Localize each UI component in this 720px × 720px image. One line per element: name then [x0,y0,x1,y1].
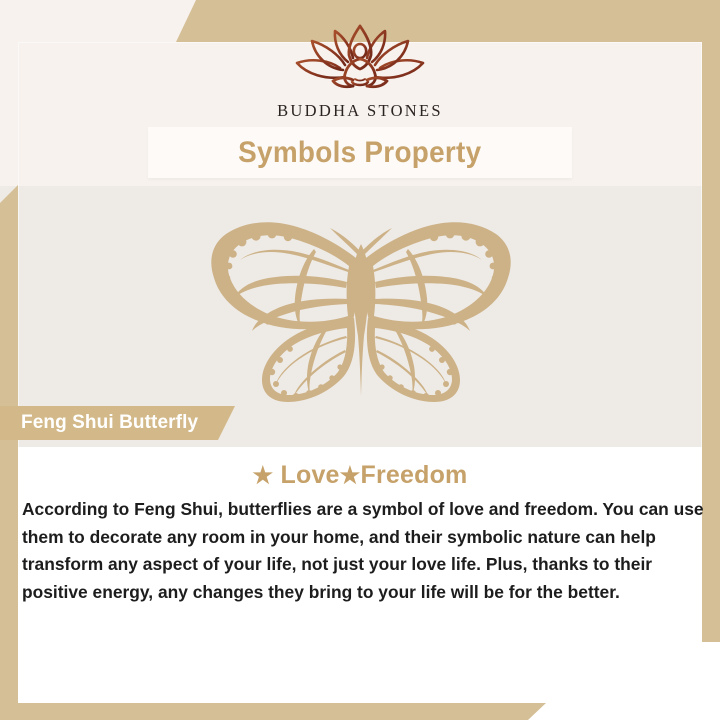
description-paragraph: According to Feng Shui, butterflies are … [22,496,720,606]
feng-shui-banner-label: Feng Shui Butterfly [0,412,198,434]
frame-left-bar [0,185,18,720]
butterfly-illustration [196,206,526,406]
tagline-word-love: Love [281,461,340,489]
butterfly-icon [196,206,526,406]
feng-shui-banner: Feng Shui Butterfly [0,406,235,440]
page-title: Symbols Property [238,136,481,170]
star-icon-middle: ★ [340,462,361,488]
brand-logo: BUDDHA STONES [0,22,720,121]
promo-card: BUDDHA STONES Symbols Property [0,0,720,720]
brand-name: BUDDHA STONES [0,101,720,121]
star-icon-left: ★ [253,462,274,488]
page-title-band: Symbols Property [148,127,572,178]
lotus-meditation-icon [285,22,435,96]
tagline: ★ Love★Freedom [0,461,720,490]
tagline-word-freedom: Freedom [360,461,467,489]
